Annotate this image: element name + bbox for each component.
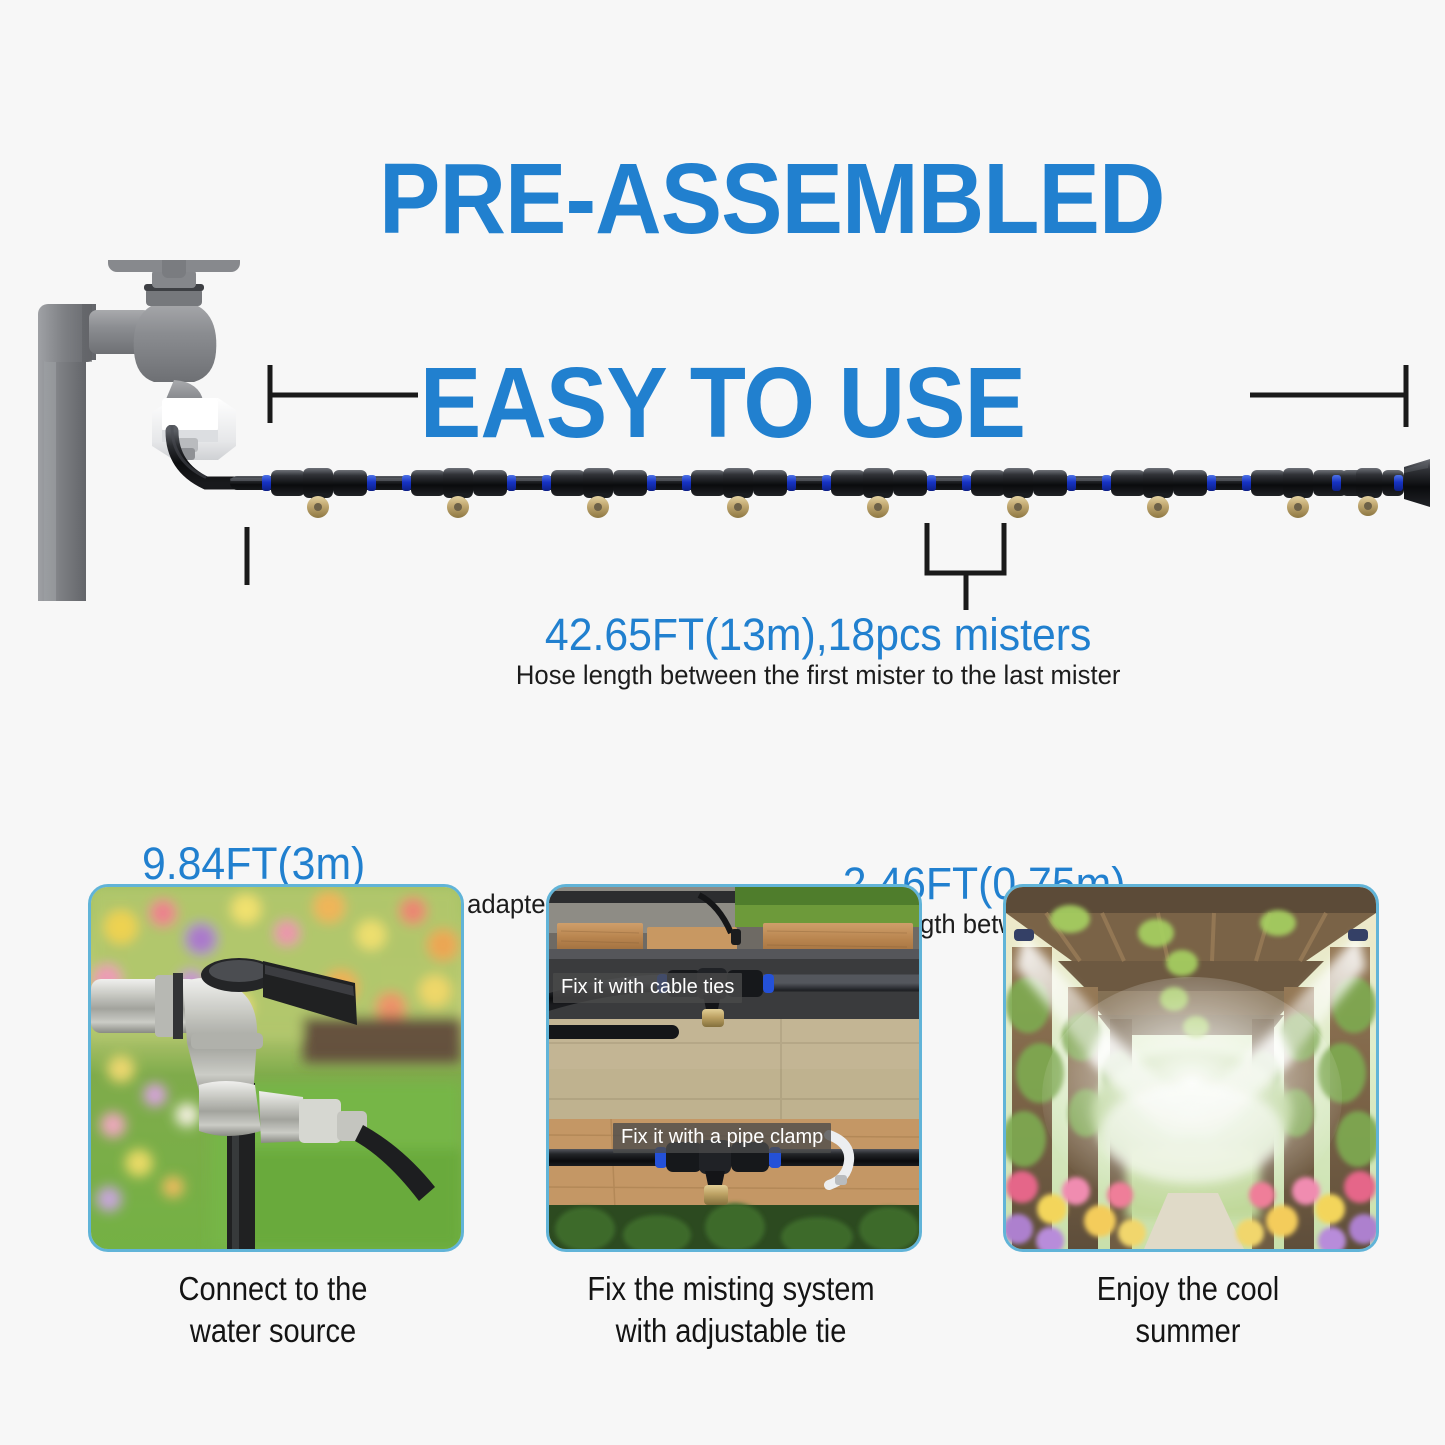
- caption-line-1: Connect to the: [110, 1268, 436, 1310]
- photo-card-enjoy-cool-summer[interactable]: [1003, 884, 1379, 1252]
- card-caption-enjoy-cool-summer: Enjoy the cool summer: [1025, 1268, 1351, 1352]
- caption-line-2: summer: [1025, 1310, 1351, 1352]
- caption-line-2: water source: [110, 1310, 436, 1352]
- caption-line-1: Enjoy the cool: [1025, 1268, 1351, 1310]
- spigot-in-garden-photo: [91, 887, 461, 1249]
- main-dimension-description: Hose length between the first mister to …: [516, 658, 1120, 694]
- spacing-bracket: [927, 523, 1004, 573]
- hose-mounted-on-wall-photo: [549, 887, 919, 1249]
- caption-line-1: Fix the misting system: [568, 1268, 894, 1310]
- headline-line-1: PRE-ASSEMBLED: [379, 143, 1164, 255]
- pergola-misting-photo: [1006, 887, 1376, 1249]
- caption-line-2: with adjustable tie: [568, 1310, 894, 1352]
- left-dimension-value: 9.84FT(3m): [142, 840, 554, 887]
- overlay-caption-cable-ties: Fix it with cable ties: [553, 973, 742, 1003]
- photo-card-connect-water-source[interactable]: [88, 884, 464, 1252]
- card-caption-connect-water-source: Connect to the water source: [110, 1268, 436, 1352]
- product-dimension-diagram: 42.65FT(13m),18pcs misters Hose length b…: [0, 255, 1445, 725]
- infographic-page: PRE-ASSEMBLED EASY TO USE: [0, 0, 1445, 1445]
- photo-card-fix-misting-system[interactable]: Fix it with cable ties Fix it with a pip…: [546, 884, 922, 1252]
- overlay-caption-pipe-clamp: Fix it with a pipe clamp: [613, 1123, 831, 1153]
- main-dimension-label: 42.65FT(13m),18pcs misters Hose length b…: [500, 611, 1136, 694]
- card-caption-fix-misting-system: Fix the misting system with adjustable t…: [568, 1268, 894, 1352]
- photo-card-row: Fix it with cable ties Fix it with a pip…: [0, 884, 1445, 1264]
- main-dimension-value: 42.65FT(13m),18pcs misters: [516, 611, 1120, 658]
